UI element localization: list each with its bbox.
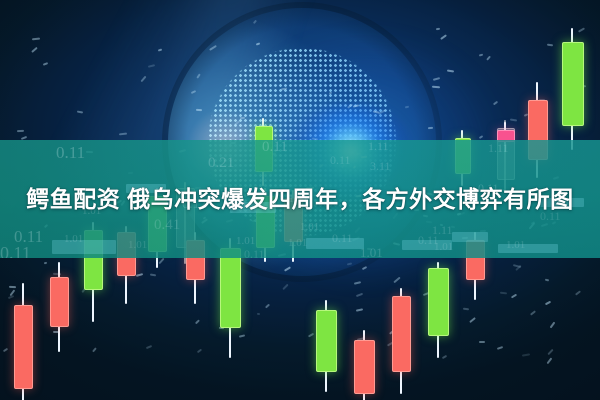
candle-body	[14, 305, 33, 389]
article-cover-image: 0.110.110.211.111.113.111.011.010.121.01…	[0, 0, 600, 400]
candle-14	[392, 288, 409, 394]
candle-2	[50, 262, 67, 352]
candle-21	[562, 28, 582, 150]
candle-body	[220, 248, 241, 328]
candle-15	[428, 262, 447, 358]
candle-body	[354, 340, 375, 394]
candle-1	[14, 283, 31, 400]
candle-body	[392, 296, 411, 372]
headline-block: 鳄鱼配资 俄乌冲突爆发四周年，各方外交博弈有所图	[0, 140, 600, 258]
candle-body	[562, 42, 584, 126]
candle-body	[428, 268, 449, 336]
headline-text: 鳄鱼配资 俄乌冲突爆发四周年，各方外交博弈有所图	[26, 184, 573, 214]
candle-13	[354, 330, 373, 400]
candle-12	[316, 300, 335, 392]
candle-body	[316, 310, 337, 372]
candle-body	[50, 277, 69, 327]
